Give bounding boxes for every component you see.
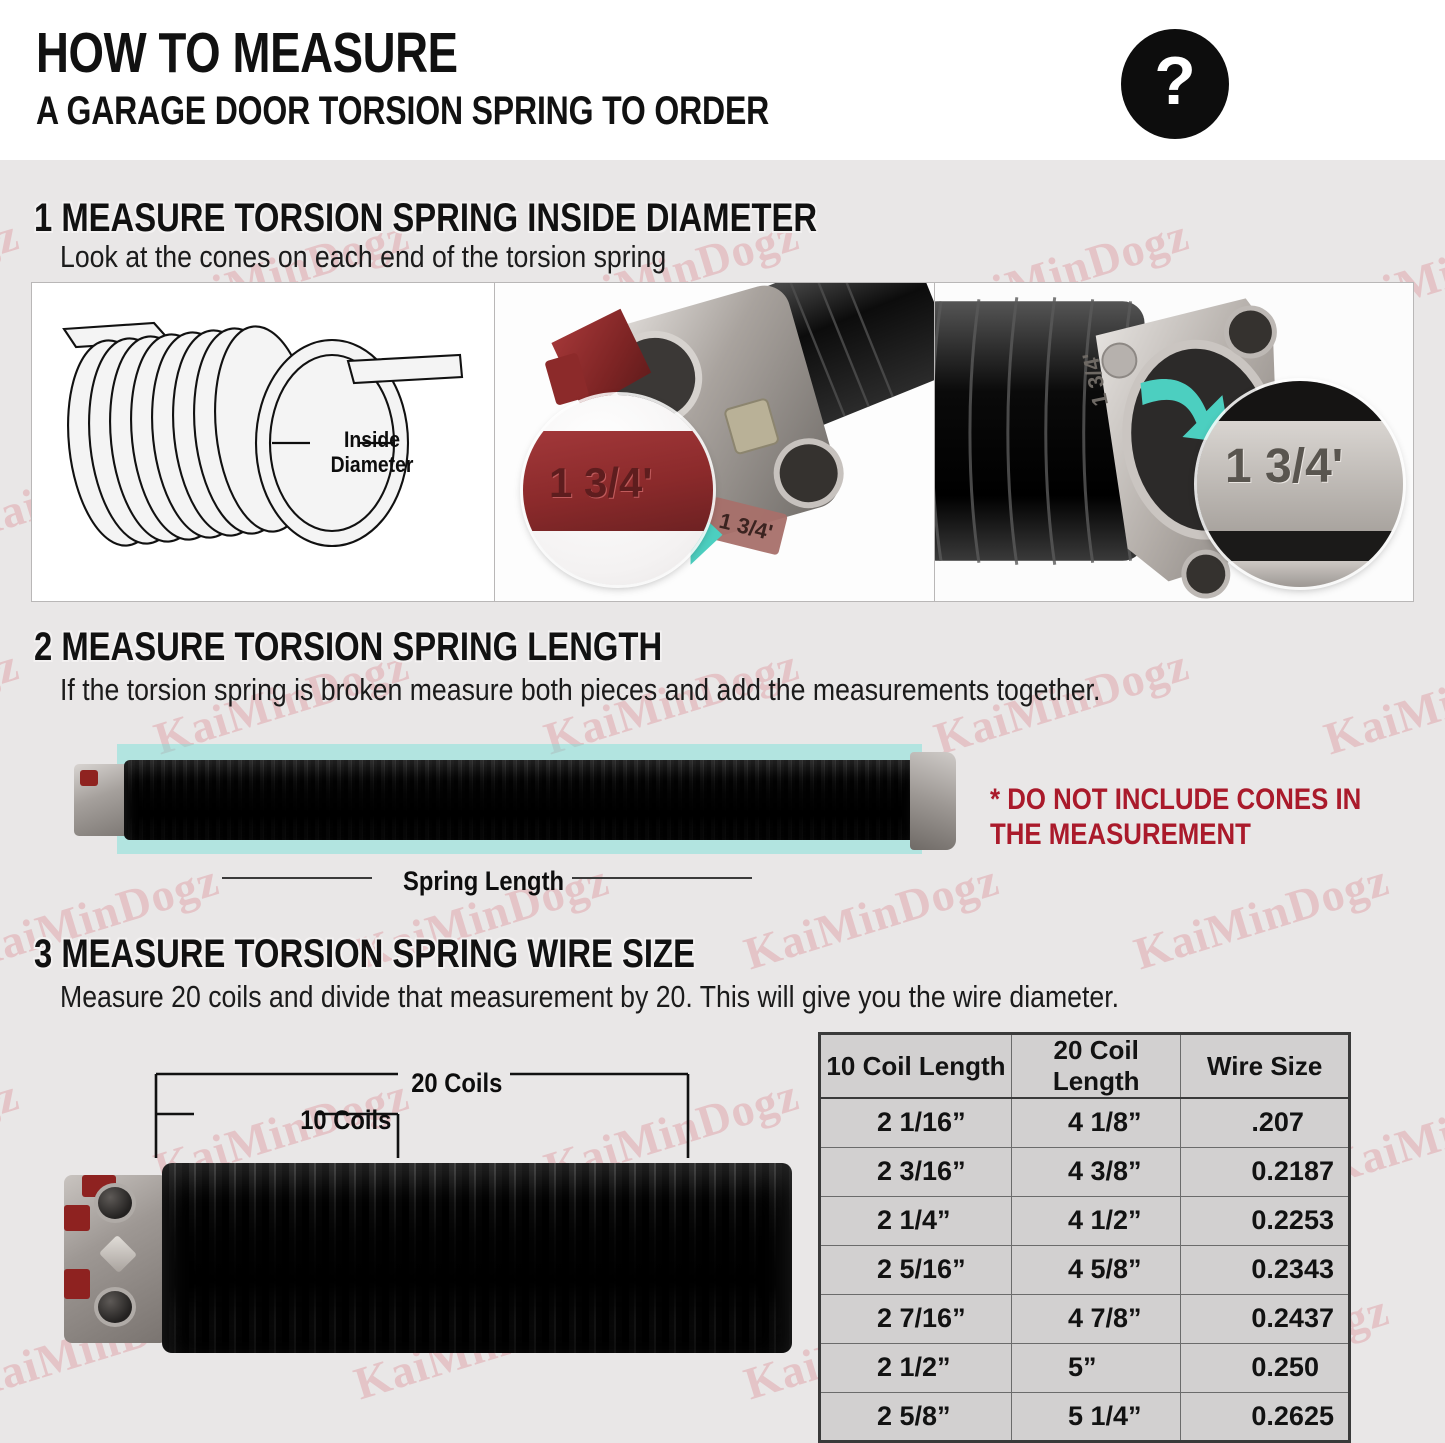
- table-row: 2 1/16”4 1/8”.207: [820, 1098, 1350, 1147]
- watermark-text: KaiMinDogz: [0, 1068, 25, 1196]
- label-20-coils: 20 Coils: [411, 1068, 502, 1099]
- cone-warning-line2: THE MEASUREMENT: [990, 818, 1251, 851]
- watermark-text: KaiMinDogz: [0, 638, 25, 766]
- table-cell: 2 1/2”: [820, 1343, 1012, 1392]
- table-cell: 0.2187: [1181, 1147, 1350, 1196]
- column-header-20-coil: 20 Coil Length: [1011, 1034, 1180, 1099]
- steel-cone-stamp-zoom: 1 3/4': [1225, 439, 1343, 494]
- table-cell: 0.2253: [1181, 1196, 1350, 1245]
- cone-bore-bottom: [94, 1287, 136, 1327]
- table-cell: 2 3/16”: [820, 1147, 1012, 1196]
- table-cell: 4 1/8”: [1011, 1098, 1180, 1147]
- question-mark-icon: ?: [1121, 29, 1229, 139]
- inside-diameter-diagram-panel: Inside Diameter: [32, 283, 494, 601]
- step-3-heading: 3 MEASURE TORSION SPRING WIRE SIZE: [34, 932, 695, 976]
- inside-diameter-label: Inside Diameter: [321, 427, 423, 477]
- watermark-text: KaiMinDogz: [0, 208, 25, 336]
- wire-size-spring-photo: [64, 1153, 792, 1363]
- table-header-row: 10 Coil Length 20 Coil Length Wire Size: [820, 1034, 1350, 1099]
- inside-diameter-label-line1: Inside: [344, 427, 400, 452]
- step-1-heading: 1 MEASURE TORSION SPRING INSIDE DIAMETER: [34, 196, 817, 240]
- cone-bore-top: [94, 1183, 136, 1223]
- step-3-subtitle: Measure 20 coils and divide that measure…: [60, 980, 1119, 1014]
- table-cell: 0.2343: [1181, 1245, 1350, 1294]
- red-cone-stamp-zoom: 1 3/4': [549, 459, 652, 507]
- table-cell: 2 5/16”: [820, 1245, 1012, 1294]
- step-2-subtitle: If the torsion spring is broken measure …: [60, 673, 1100, 707]
- table-cell: 2 5/8”: [820, 1392, 1012, 1441]
- table-cell: 0.250: [1181, 1343, 1350, 1392]
- table-row: 2 1/2”5”0.250: [820, 1343, 1350, 1392]
- table-row: 2 5/16”4 5/8”0.2343: [820, 1245, 1350, 1294]
- magnifier-bubble-red-cone: 1 3/4': [523, 395, 713, 585]
- cone-set-screw: [99, 1235, 137, 1273]
- cone-warning-line1: * DO NOT INCLUDE CONES IN: [990, 783, 1361, 816]
- table-row: 2 7/16”4 7/8”0.2437: [820, 1294, 1350, 1343]
- steel-cone-photo-panel: 1 3/4' 1 3/4': [934, 283, 1413, 601]
- table-cell: 5 1/4”: [1011, 1392, 1180, 1441]
- torsion-spring-line-drawing: [32, 283, 494, 601]
- table-cell: 0.2625: [1181, 1392, 1350, 1441]
- inside-diameter-label-line2: Diameter: [331, 452, 414, 477]
- header: HOW TO MEASURE A GARAGE DOOR TORSION SPR…: [0, 0, 1445, 160]
- watermark-text: KaiMinDogz: [1128, 853, 1395, 981]
- step-1-subtitle: Look at the cones on each end of the tor…: [60, 240, 666, 274]
- table-row: 2 5/8”5 1/4”0.2625: [820, 1392, 1350, 1441]
- cone-warning-text: * DO NOT INCLUDE CONES IN THE MEASUREMEN…: [990, 782, 1361, 852]
- spring-coil-body: [124, 760, 916, 840]
- spring-length-label: Spring Length: [403, 866, 564, 897]
- table-cell: 2 1/16”: [820, 1098, 1012, 1147]
- red-cone-photo-panel: 1 3/4' 1 3/4': [494, 283, 934, 601]
- wire-size-table: 10 Coil Length 20 Coil Length Wire Size …: [818, 1032, 1351, 1443]
- watermark-text: KaiMinDogz: [738, 853, 1005, 981]
- column-header-wire-size: Wire Size: [1181, 1034, 1350, 1099]
- page-subtitle: A GARAGE DOOR TORSION SPRING TO ORDER: [36, 90, 769, 132]
- table-row: 2 1/4”4 1/2”0.2253: [820, 1196, 1350, 1245]
- spring-cone-closeup: [64, 1175, 164, 1343]
- watermark-text: KaiMinDogz: [1318, 638, 1445, 766]
- table-cell: 4 5/8”: [1011, 1245, 1180, 1294]
- table-cell: 2 1/4”: [820, 1196, 1012, 1245]
- column-header-10-coil: 10 Coil Length: [820, 1034, 1012, 1099]
- table-cell: 2 7/16”: [820, 1294, 1012, 1343]
- table-cell: .207: [1181, 1098, 1350, 1147]
- spring-cone-right: [910, 752, 956, 850]
- spring-cone-left: [74, 764, 130, 836]
- table-cell: 0.2437: [1181, 1294, 1350, 1343]
- page-title: HOW TO MEASURE: [36, 24, 458, 82]
- table-cell: 4 7/8”: [1011, 1294, 1180, 1343]
- spring-coils-closeup: [162, 1163, 792, 1353]
- table-cell: 4 3/8”: [1011, 1147, 1180, 1196]
- table-row: 2 3/16”4 3/8”0.2187: [820, 1147, 1350, 1196]
- cone-red-tab-left-upper: [64, 1205, 90, 1231]
- magnifier-bubble-steel-cone: 1 3/4': [1197, 381, 1403, 587]
- step-1-panel-row: Inside Diameter: [31, 282, 1414, 602]
- table-cell: 4 1/2”: [1011, 1196, 1180, 1245]
- spring-length-illustration: Spring Length: [62, 738, 982, 866]
- step-2-heading: 2 MEASURE TORSION SPRING LENGTH: [34, 625, 662, 669]
- cone-red-tab-left-lower: [64, 1269, 90, 1299]
- table-cell: 5”: [1011, 1343, 1180, 1392]
- label-10-coils: 10 Coils: [300, 1105, 391, 1136]
